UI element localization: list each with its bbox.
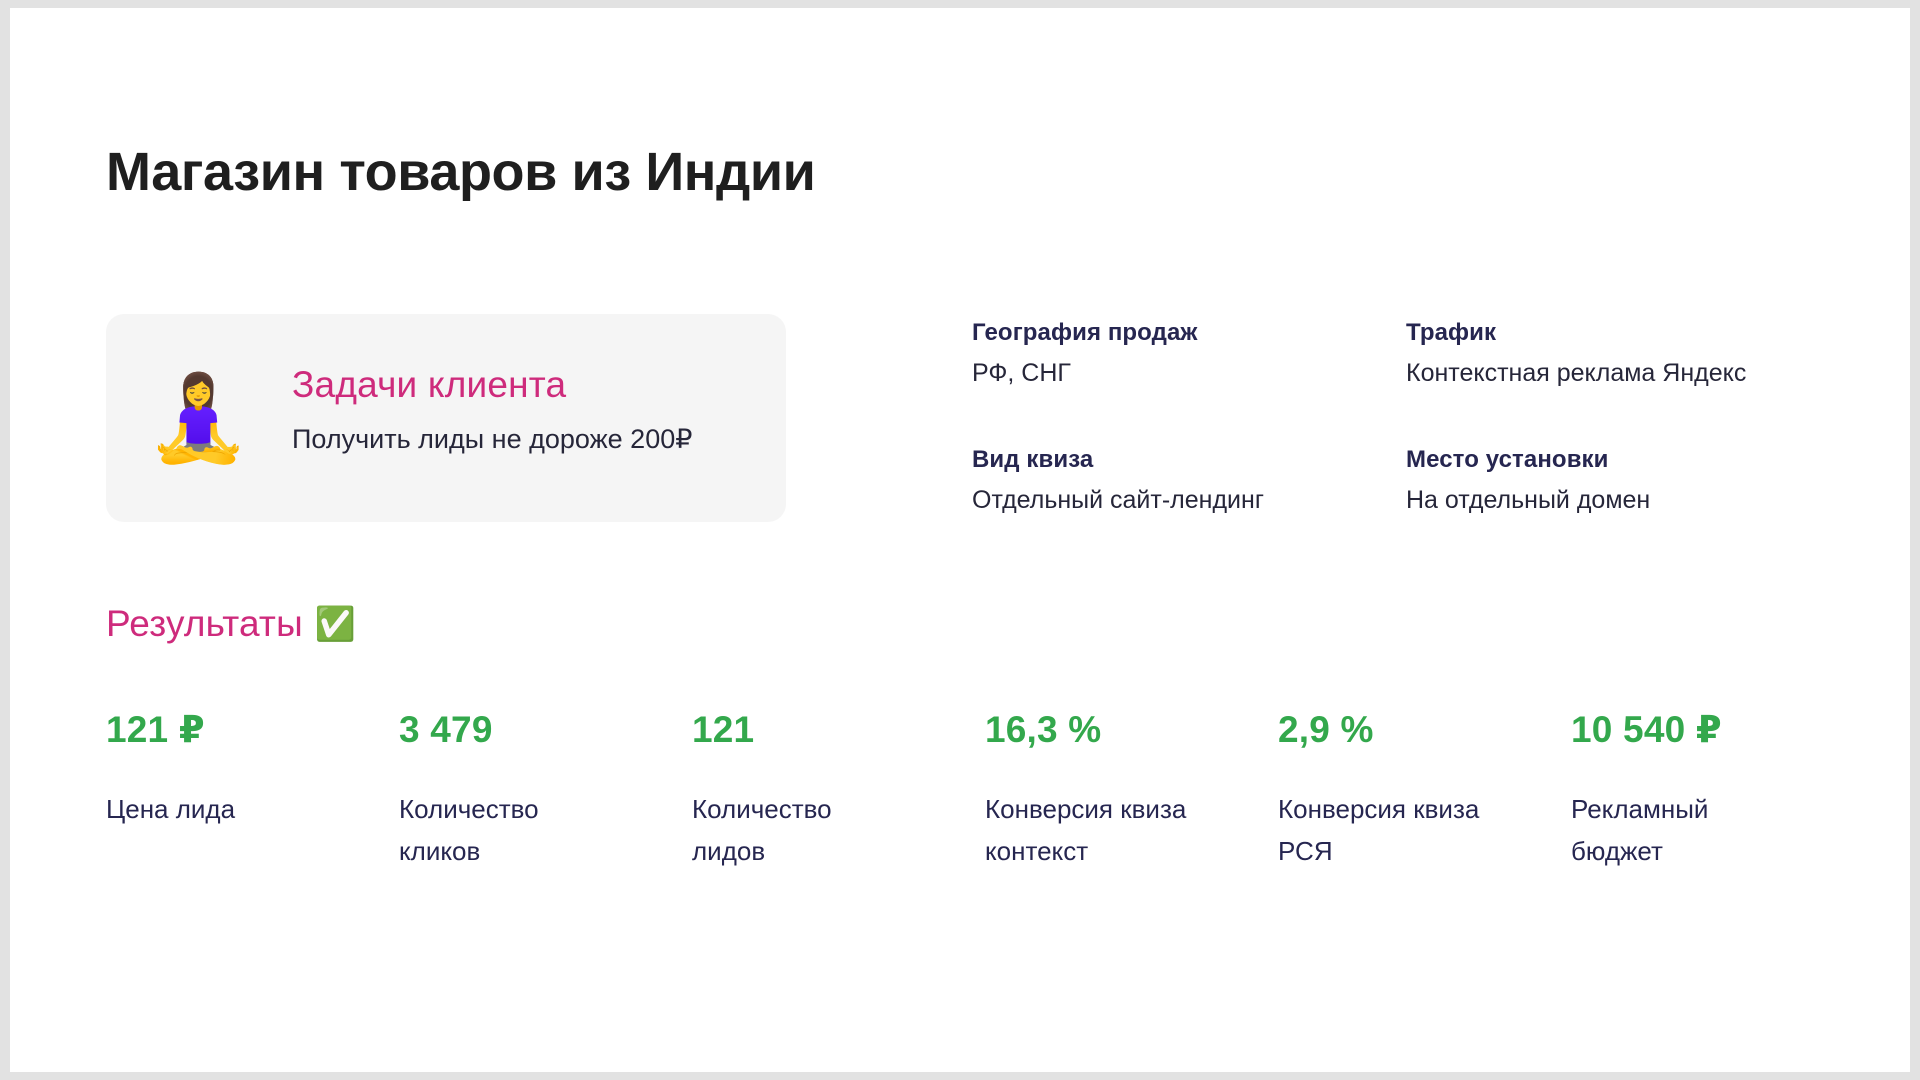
screen-frame: Магазин товаров из Индии 🧘‍♀️ Задачи кли… — [0, 0, 1920, 1080]
metric-leads-count: 121 Количество лидов — [692, 708, 985, 872]
client-tasks-text-block: Задачи клиента Получить лиды не дороже 2… — [292, 362, 762, 456]
metric-label: Конверсия квиза РСЯ — [1278, 788, 1488, 872]
project-info-grid: География продаж РФ, СНГ Трафик Контекст… — [972, 318, 1852, 516]
woman-in-lotus-position-icon: 🧘‍♀️ — [146, 362, 250, 474]
slide-page: Магазин товаров из Индии 🧘‍♀️ Задачи кли… — [10, 8, 1910, 1072]
results-metrics-row: 121 ₽ Цена лида 3 479 Количество кликов … — [106, 708, 1866, 872]
metric-quiz-conversion-rsya: 2,9 % Конверсия квиза РСЯ — [1278, 708, 1571, 872]
info-label: Место установки — [1406, 445, 1840, 475]
white-check-mark-icon: ✅ — [315, 601, 356, 647]
client-tasks-card: 🧘‍♀️ Задачи клиента Получить лиды не дор… — [106, 314, 786, 522]
metric-value: 121 ₽ — [106, 708, 399, 752]
info-value: Отдельный сайт-лендинг — [972, 484, 1406, 516]
metric-ad-budget: 10 540 ₽ Рекламный бюджет — [1571, 708, 1864, 872]
metric-value: 10 540 ₽ — [1571, 708, 1864, 752]
info-item-traffic: Трафик Контекстная реклама Яндекс — [1406, 318, 1840, 389]
metric-lead-price: 121 ₽ Цена лида — [106, 708, 399, 872]
results-title: Результаты — [106, 601, 303, 647]
metric-value: 3 479 — [399, 708, 692, 752]
info-row: География продаж РФ, СНГ Трафик Контекст… — [972, 318, 1852, 389]
info-label: Трафик — [1406, 318, 1840, 348]
info-value: Контекстная реклама Яндекс — [1406, 357, 1840, 389]
metric-clicks-count: 3 479 Количество кликов — [399, 708, 692, 872]
info-label: География продаж — [972, 318, 1406, 348]
metric-label: Конверсия квиза контекст — [985, 788, 1195, 872]
page-title: Магазин товаров из Индии — [106, 140, 815, 204]
client-tasks-title: Задачи клиента — [292, 362, 762, 408]
info-item-quiz-type: Вид квиза Отдельный сайт-лендинг — [972, 445, 1406, 516]
metric-label: Количество кликов — [399, 788, 609, 872]
metric-value: 16,3 % — [985, 708, 1278, 752]
client-tasks-description: Получить лиды не дороже 200₽ — [292, 422, 762, 456]
info-value: РФ, СНГ — [972, 357, 1406, 389]
info-item-geography: География продаж РФ, СНГ — [972, 318, 1406, 389]
info-item-install-place: Место установки На отдельный домен — [1406, 445, 1840, 516]
info-value: На отдельный домен — [1406, 484, 1840, 516]
metric-value: 121 — [692, 708, 985, 752]
metric-label: Количество лидов — [692, 788, 902, 872]
info-row: Вид квиза Отдельный сайт-лендинг Место у… — [972, 445, 1852, 516]
metric-label: Рекламный бюджет — [1571, 788, 1781, 872]
info-label: Вид квиза — [972, 445, 1406, 475]
metric-value: 2,9 % — [1278, 708, 1571, 752]
metric-quiz-conversion-context: 16,3 % Конверсия квиза контекст — [985, 708, 1278, 872]
results-heading: Результаты ✅ — [106, 601, 356, 647]
metric-label: Цена лида — [106, 788, 316, 830]
